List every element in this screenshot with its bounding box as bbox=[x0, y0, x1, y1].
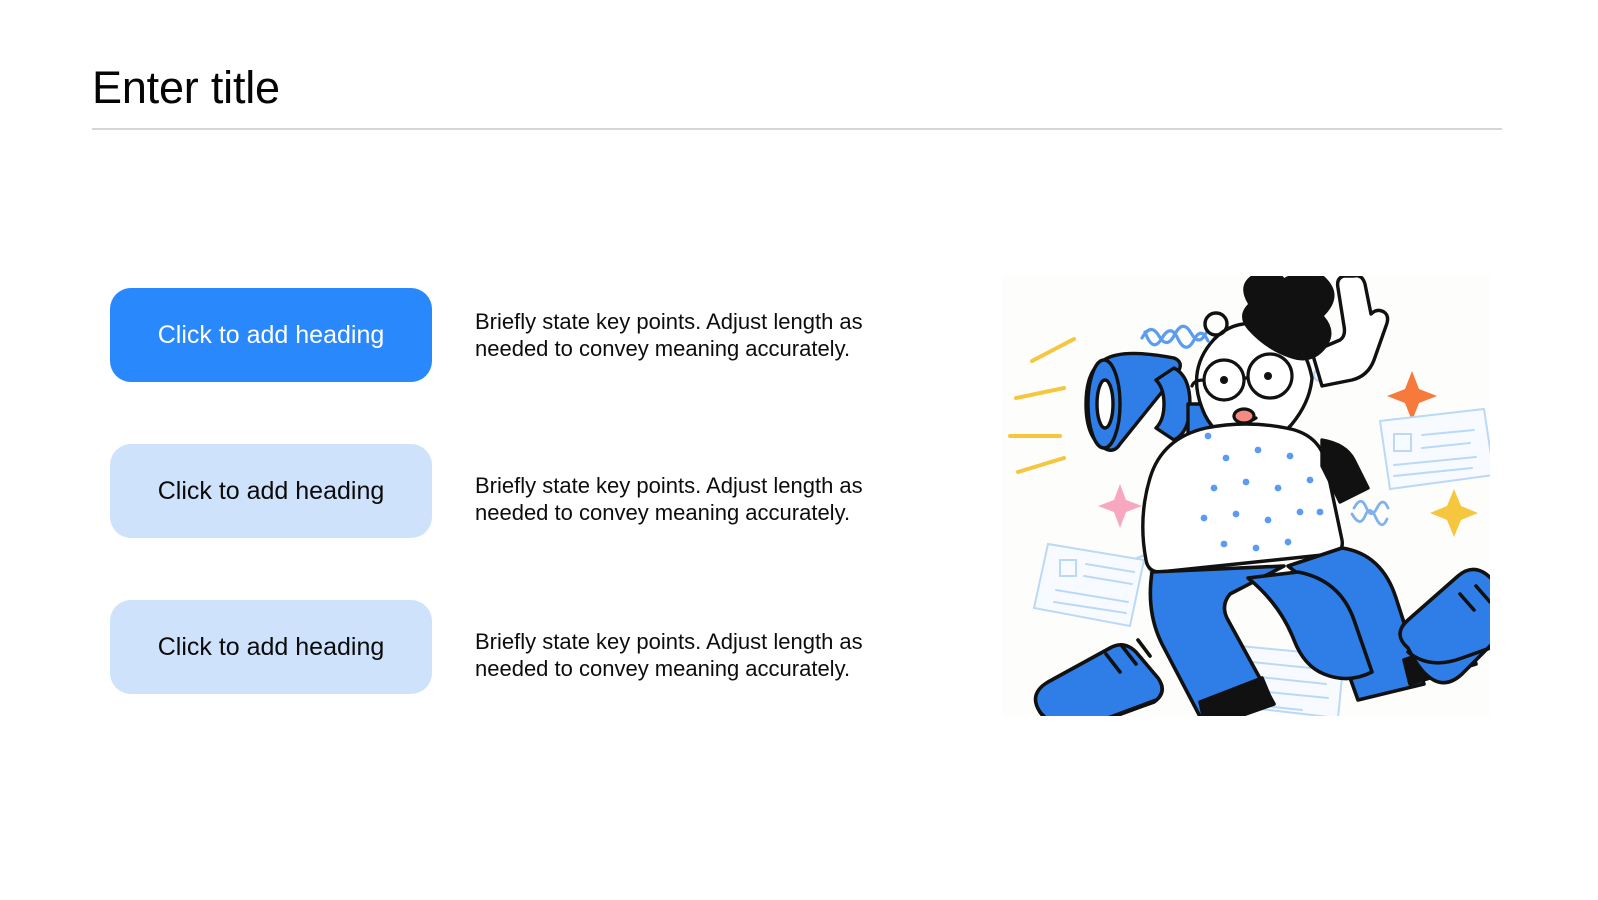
heading-chip-3[interactable]: Click to add heading bbox=[110, 600, 432, 694]
illustration-panel bbox=[1002, 276, 1490, 716]
content-row: Click to add heading Briefly state key p… bbox=[110, 444, 940, 538]
content-area: Click to add heading Briefly state key p… bbox=[110, 288, 940, 694]
heading-chip-1-label: Click to add heading bbox=[158, 320, 385, 350]
body-text-1[interactable]: Briefly state key points. Adjust length … bbox=[475, 288, 905, 362]
body-text-3[interactable]: Briefly state key points. Adjust length … bbox=[475, 600, 905, 682]
person-running-with-megaphone-icon bbox=[1002, 276, 1490, 716]
heading-chip-3-label: Click to add heading bbox=[158, 632, 385, 662]
slide-canvas: Enter title Click to add heading Briefly… bbox=[0, 0, 1598, 900]
heading-chip-1[interactable]: Click to add heading bbox=[110, 288, 432, 382]
heading-chip-2-label: Click to add heading bbox=[158, 476, 385, 506]
title-block: Enter title bbox=[92, 62, 1502, 130]
content-row: Click to add heading Briefly state key p… bbox=[110, 288, 940, 382]
body-text-2[interactable]: Briefly state key points. Adjust length … bbox=[475, 444, 905, 526]
title-divider bbox=[92, 128, 1502, 130]
page-title[interactable]: Enter title bbox=[92, 62, 1502, 114]
content-row: Click to add heading Briefly state key p… bbox=[110, 600, 940, 694]
heading-chip-2[interactable]: Click to add heading bbox=[110, 444, 432, 538]
